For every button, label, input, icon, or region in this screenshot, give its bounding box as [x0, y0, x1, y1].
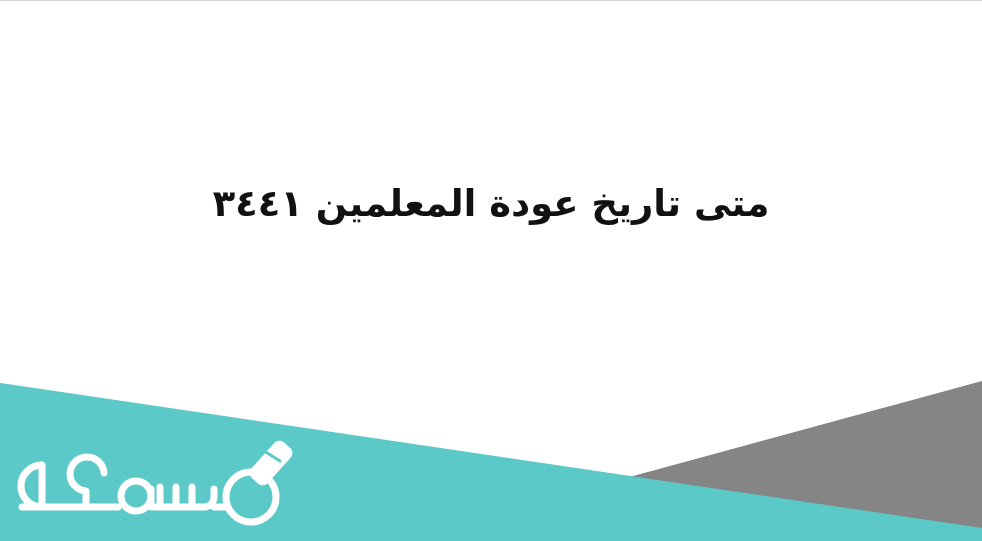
logo-wordmark [21, 457, 276, 522]
logo-letter-waw-small [121, 481, 151, 511]
logo-letter-ain [70, 457, 104, 507]
site-logo[interactable] [8, 429, 328, 533]
page-canvas: متى تاريخ عودة المعلمين ١٤٤٣ [0, 0, 982, 541]
